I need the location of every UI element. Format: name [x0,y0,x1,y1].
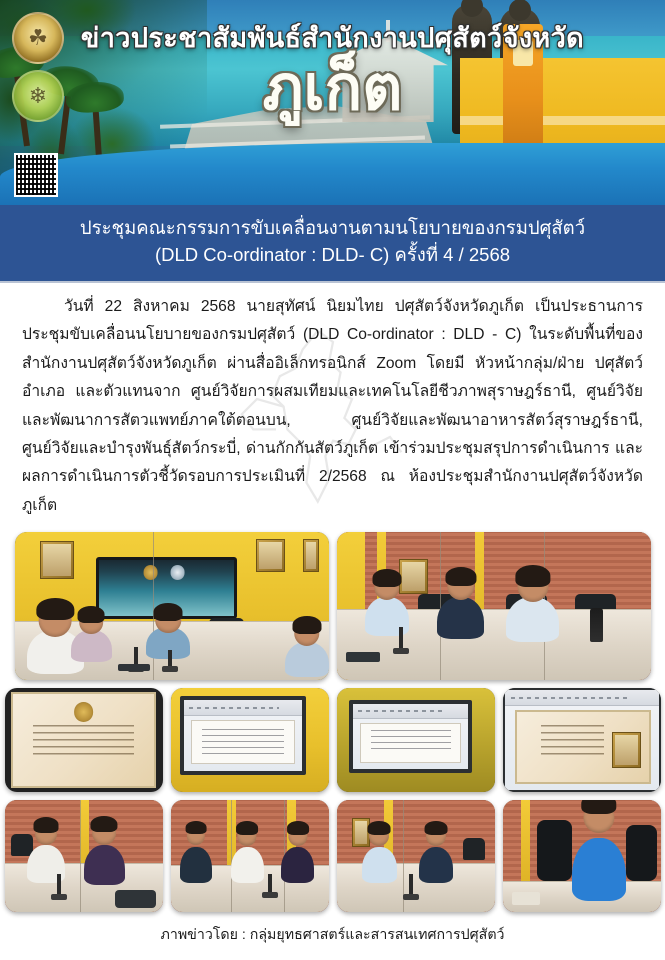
scene-screen-3 [503,688,661,792]
person-seated [419,847,454,883]
laptop [115,890,156,908]
slide-image [612,732,641,768]
microphone [409,874,413,896]
photo-staff-pair-2[interactable] [337,800,495,912]
photo-meeting-room-chairman[interactable] [15,532,329,680]
person-seated-blue-shirt [572,838,626,901]
scene-staff-2 [337,800,495,912]
photo-row-slides [8,688,657,792]
person-seated [281,847,314,883]
laptop [118,664,149,671]
photo-staff-group[interactable] [171,800,329,912]
person-seated [84,845,125,885]
table-seam [80,800,81,912]
framed-picture [40,541,75,579]
person-seated [506,597,559,641]
photo-participants-table[interactable] [337,532,651,680]
headline-line-1: ประชุมคณะกรรมการขับเคลื่อนงานตามนโยบายขอ… [80,216,585,241]
office-chair [463,838,485,860]
conference-table [337,863,495,912]
water-bottle [590,608,603,642]
slide-text-lines [371,730,451,754]
scene-title-slide [5,688,163,792]
person-seated [362,847,397,883]
scene-staff-1 [5,800,163,912]
photo-staff-blue-shirt[interactable] [503,800,661,912]
microphone [168,650,172,668]
banner-subtitle: ภูเก็ต [0,58,665,120]
scene-participants [337,532,651,680]
photo-screen-slide-1[interactable] [171,688,329,792]
framed-picture [399,559,427,595]
microphone [268,874,272,894]
person-seated [231,847,264,883]
display-monitor [349,700,472,773]
monitor-screen [505,690,659,790]
presentation-slide [11,692,156,788]
scene-meeting-room [15,532,329,680]
slide-document [191,720,295,764]
article-body: วันที่ 22 สิงหาคม 2568 นายสุทัศน์ นิยมไท… [22,293,643,520]
monitor-screen [184,700,302,771]
photo-row-top [8,532,657,680]
office-chair [11,834,33,856]
photo-credit-caption: ภาพข่าวโดย : กลุ่มยุทธศาสตร์และสารสนเทศก… [0,920,665,956]
display-monitor [503,688,661,792]
documents [512,892,540,905]
application-toolbar [353,704,468,718]
headline-bar: ประชุมคณะกรรมการขับเคลื่อนงานตามนโยบายขอ… [0,205,665,283]
framed-picture [303,539,319,572]
monitor-screen [353,704,468,769]
slide-text-lines [541,725,604,756]
scene-staff-group [171,800,329,912]
scene-screen-1 [171,688,329,792]
article-section: วันที่ 22 สิงหาคม 2568 นายสุทัศน์ นิยมไท… [0,283,665,526]
framed-picture [256,539,284,572]
microphone [399,627,403,651]
presentation-slide [515,710,651,784]
person-seated [180,847,212,883]
photo-title-slide[interactable] [5,688,163,792]
display-monitor [180,696,306,775]
person-seated [71,630,112,663]
laptop [346,652,381,662]
seal-logo-icon [74,702,94,722]
office-chair [537,820,572,880]
seal-logo-icon [170,565,185,580]
headline-line-2: (DLD Co-ordinator : DLD- C) ครั้งที่ 4 /… [155,241,510,269]
photo-row-bottom [8,800,657,912]
slide-text-lines [202,729,284,755]
application-toolbar [184,700,302,716]
person-seated [437,597,484,638]
table-seam [231,800,232,912]
qr-code-pattern [16,155,56,195]
slide-text-lines [33,725,135,760]
person-seated [285,642,329,678]
qr-code-icon[interactable] [14,153,58,197]
office-chair [626,825,658,881]
slide-document [360,723,461,763]
photo-staff-pair-1[interactable] [5,800,163,912]
scene-screen-2 [337,688,495,792]
scene-staff-blue [503,800,661,912]
application-toolbar [505,690,659,706]
banner-title: ข่าวประชาสัมพันธ์สำนักงานปศุสัตว์จังหวัด [0,16,665,59]
banner-header: ☘ ❄ ข่าวประชาสัมพันธ์สำนักงานปศุสัตว์จัง… [0,0,665,205]
photo-screen-slide-3[interactable] [503,688,661,792]
photo-gallery [0,526,665,912]
microphone [57,874,61,896]
photo-screen-slide-2[interactable] [337,688,495,792]
news-poster-page: ☘ ❄ ข่าวประชาสัมพันธ์สำนักงานปศุสัตว์จัง… [0,0,665,960]
seal-logo-icon [143,565,158,580]
